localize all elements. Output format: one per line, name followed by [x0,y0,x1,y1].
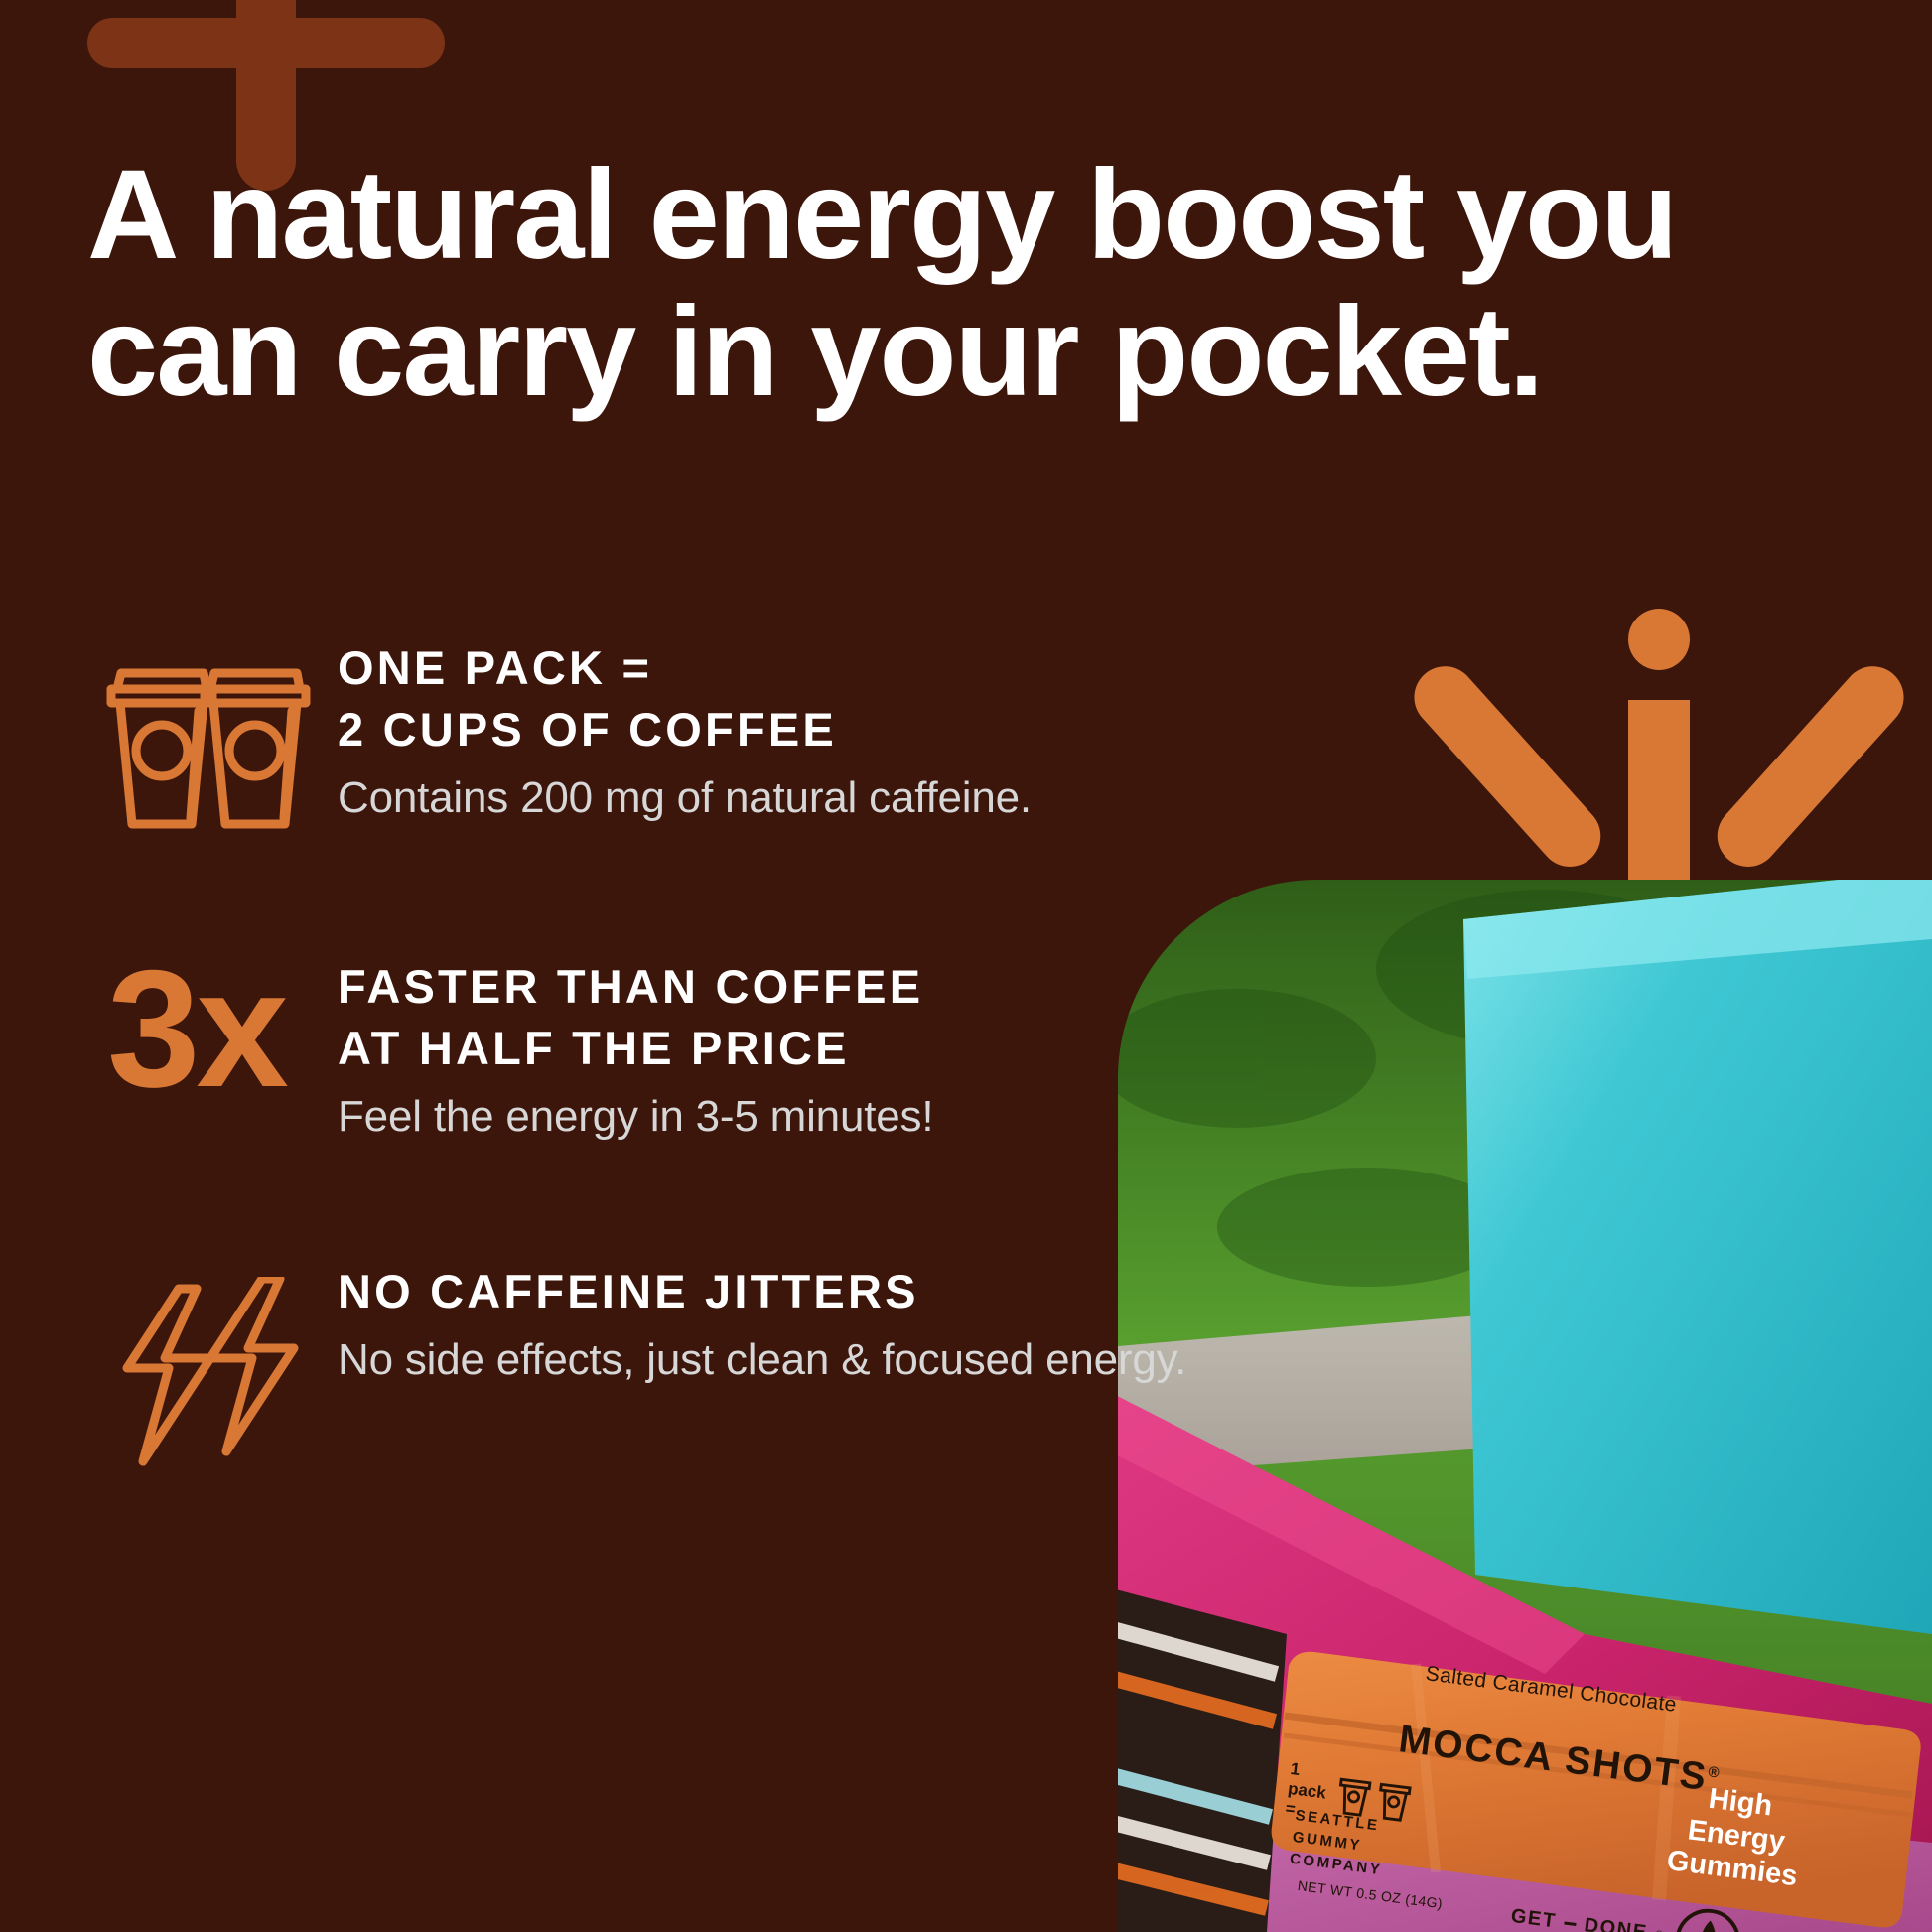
arrow-head-left [1402,653,1613,879]
arrow-tip [1628,609,1690,670]
packet-tagline-left: GET [1509,1905,1557,1932]
arrow-head-right [1705,653,1916,879]
feature-title: NO CAFFEINE JITTERS [338,1261,1291,1322]
packet-company: SEATTLE GUMMY COMPANY [1289,1805,1389,1880]
feature-body: ONE PACK = 2 CUPS OF COFFEE Contains 200… [338,635,1291,829]
feature-title: FASTER THAN COFFEE AT HALF THE PRICE [338,956,1291,1079]
three-x-label: 3x [107,954,285,1104]
feature-subtitle: No side effects, just clean & focused en… [338,1330,1291,1391]
plus-horizontal-bar [87,18,445,68]
packet-tagline-right: DONE [1583,1914,1649,1932]
feature-title: ONE PACK = 2 CUPS OF COFFEE [338,637,1291,760]
double-lightning-bolt-icon [99,1259,338,1490]
packet-tagline-blank [1564,1922,1577,1927]
feature-list: ONE PACK = 2 CUPS OF COFFEE Contains 200… [99,635,1291,1490]
feature-item-no-jitters: NO CAFFEINE JITTERS No side effects, jus… [99,1259,1291,1490]
two-coffee-cups-icon [99,635,338,837]
feature-body: NO CAFFEINE JITTERS No side effects, jus… [338,1259,1291,1391]
packet-brand-mark: ® [1707,1763,1722,1782]
feature-item-faster-than-coffee: 3x FASTER THAN COFFEE AT HALF THE PRICE … [99,954,1291,1148]
page-title: A natural energy boost you can carry in … [87,147,1795,421]
three-x-multiplier: 3x [99,954,338,1104]
feature-item-one-pack: ONE PACK = 2 CUPS OF COFFEE Contains 200… [99,635,1291,837]
feature-subtitle: Feel the energy in 3-5 minutes! [338,1087,1291,1148]
feature-body: FASTER THAN COFFEE AT HALF THE PRICE Fee… [338,954,1291,1148]
striped-towel [1118,1575,1287,1932]
feature-subtitle: Contains 200 mg of natural caffeine. [338,768,1291,829]
yoga-block [1463,880,1932,1634]
